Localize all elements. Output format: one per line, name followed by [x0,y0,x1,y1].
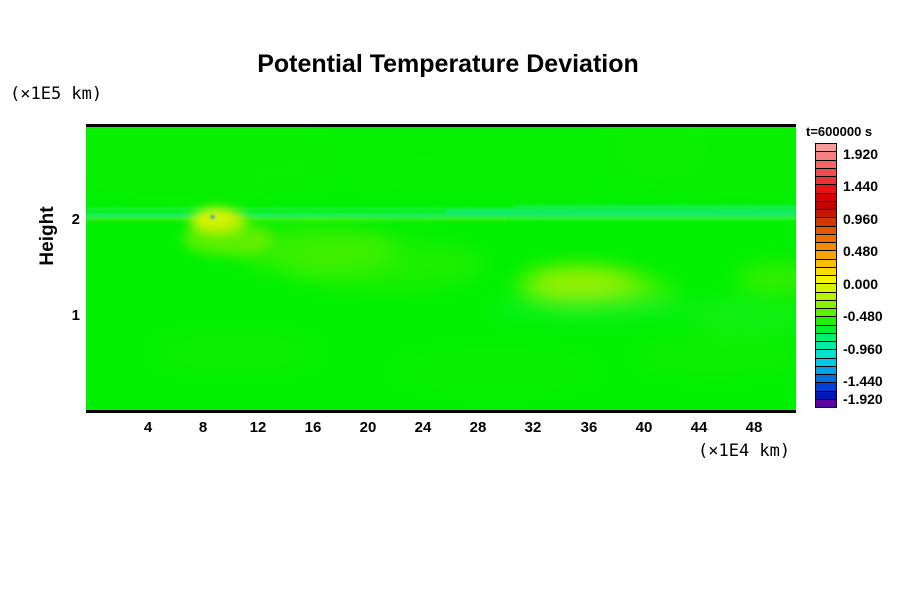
field-anomaly [146,327,326,377]
colorbar-tick-label: 0.480 [843,243,878,259]
colorbar-band [816,202,836,210]
colorbar-band [816,218,836,226]
field-anomaly [686,297,796,337]
colorbar-band [816,194,836,202]
colorbar-band [816,383,836,391]
colorbar-band [816,235,836,243]
page-title: Potential Temperature Deviation [0,50,900,79]
colorbar-band [816,161,836,169]
colorbar-band [816,227,836,235]
field-wave-band [86,220,506,222]
x-tick-label: 36 [569,419,609,436]
x-tick-label: 24 [403,419,443,436]
x-tick-label: 44 [679,419,719,436]
colorbar-band [816,243,836,251]
field-anomaly [626,332,796,380]
colorbar-band [816,392,836,400]
colorbar-band [816,185,836,193]
colorbar-band [816,293,836,301]
colorbar-band [816,326,836,334]
colorbar-band [816,177,836,185]
plot-bottom-spine [86,410,796,413]
colorbar-band [816,260,836,268]
colorbar-band [816,169,836,177]
x-tick-label: 12 [238,419,278,436]
colorbar-band [816,276,836,284]
field-wave-band [516,205,796,208]
x-axis-units-label: (×1E4 km) [698,441,790,461]
heatmap-plot-area[interactable] [86,127,796,410]
colorbar-tick-label: -1.440 [843,373,883,389]
colorbar-tick-label: -0.960 [843,341,883,357]
colorbar-tick-label: -1.920 [843,391,883,407]
colorbar-band [816,309,836,317]
figure-canvas: Potential Temperature Deviation (×1E5 km… [0,0,900,600]
colorbar-band [816,342,836,350]
x-tick-label: 32 [513,419,553,436]
colorbar[interactable] [815,143,837,408]
field-anomaly [486,295,696,321]
colorbar-band [816,400,836,407]
x-tick-label: 40 [624,419,664,436]
y-tick-label: 1 [60,307,80,324]
colorbar-band [816,375,836,383]
colorbar-tick-label: 0.960 [843,211,878,227]
colorbar-band [816,367,836,375]
field-anomaly [736,263,796,295]
colorbar-tick-label: 1.440 [843,178,878,194]
field-anomaly [386,342,606,398]
colorbar-tick-label: 1.920 [843,146,878,162]
colorbar-band [816,359,836,367]
colorbar-band [816,144,836,152]
x-tick-label: 16 [293,419,333,436]
field-anomaly-core [210,215,215,219]
colorbar-tick-label: 0.000 [843,276,878,292]
x-tick-label: 48 [734,419,774,436]
field-anomaly [236,157,476,197]
colorbar-tick-label: -0.480 [843,308,883,324]
x-tick-label: 4 [128,419,168,436]
colorbar-band [816,350,836,358]
colorbar-band [816,317,836,325]
x-tick-label: 20 [348,419,388,436]
colorbar-band [816,334,836,342]
field-wave-band [446,210,796,213]
colorbar-band [816,210,836,218]
colorbar-band [816,301,836,309]
field-anomaly [286,239,486,291]
colorbar-band [816,284,836,292]
y-tick-label: 2 [60,211,80,228]
x-tick-label: 28 [458,419,498,436]
chart-title-text: Potential Temperature Deviation [257,50,639,78]
y-axis-title: Height [37,186,59,286]
colorbar-band [816,152,836,160]
colorbar-band [816,268,836,276]
x-tick-label: 8 [183,419,223,436]
time-annotation: t=600000 s [806,124,872,139]
colorbar-band [816,251,836,259]
field-anomaly [534,273,626,297]
y-axis-units-label: (×1E5 km) [10,84,102,104]
